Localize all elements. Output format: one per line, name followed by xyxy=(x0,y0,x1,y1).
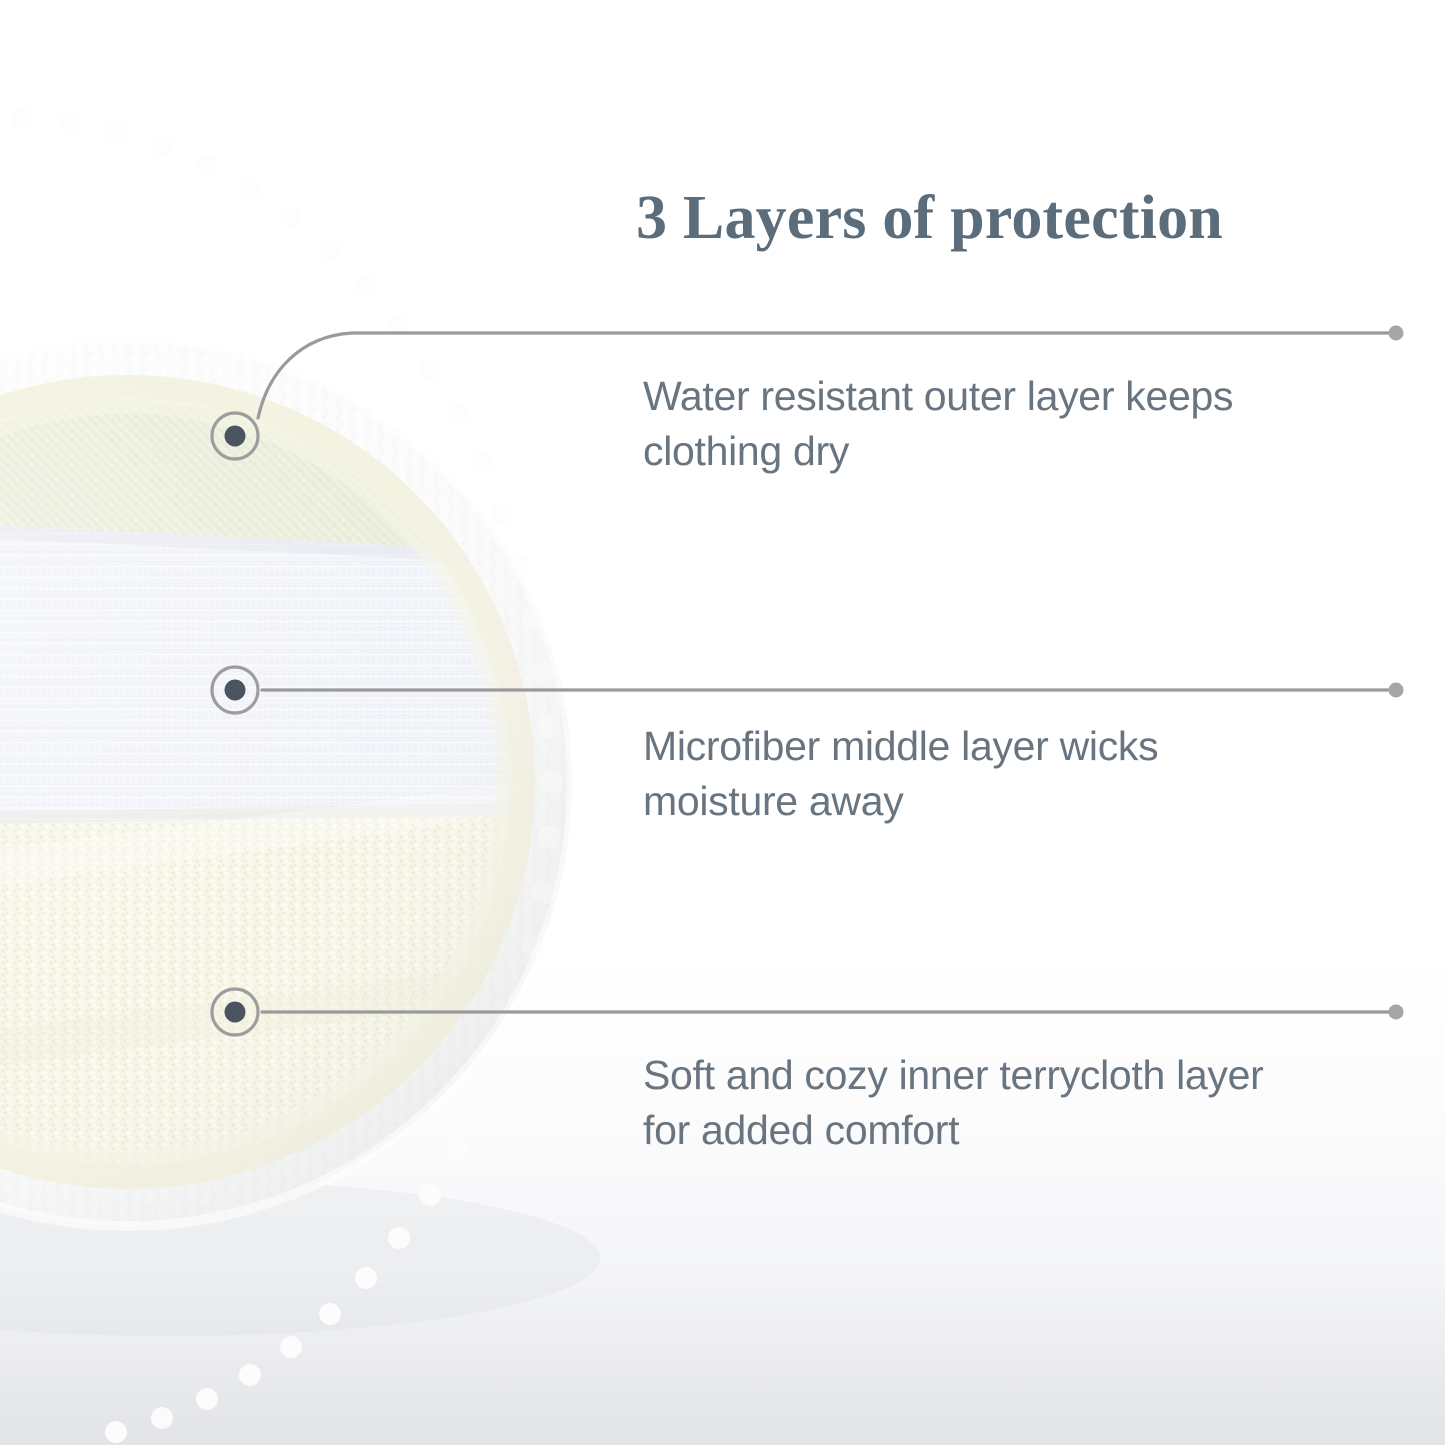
callout-label-outer-layer: Water resistant outer layer keeps clothi… xyxy=(643,369,1343,478)
pad-lighting xyxy=(0,338,572,1226)
page-title: 3 Layers of protection xyxy=(636,186,1396,251)
water-resistant-outer-layer xyxy=(0,300,700,645)
leader-endpoint-3 xyxy=(1389,1005,1404,1020)
pad-shadow xyxy=(0,1180,600,1336)
terrycloth-inner-layer xyxy=(0,300,700,1445)
pad-serged-edge xyxy=(0,108,572,1443)
product-photo xyxy=(0,0,620,1445)
callout-label-middle-layer: Microfiber middle layer wicks moisture a… xyxy=(643,719,1343,828)
pad-fabric-layers xyxy=(0,300,700,1445)
callout-label-inner-layer: Soft and cozy inner terrycloth layer for… xyxy=(643,1048,1363,1157)
leader-endpoint-2 xyxy=(1389,683,1404,698)
leader-line-endpoints xyxy=(1389,326,1404,1020)
microfiber-middle-layer xyxy=(0,506,700,830)
infographic-canvas: 3 Layers of protection Water resistant o… xyxy=(0,0,1445,1445)
leader-endpoint-1 xyxy=(1389,326,1404,341)
